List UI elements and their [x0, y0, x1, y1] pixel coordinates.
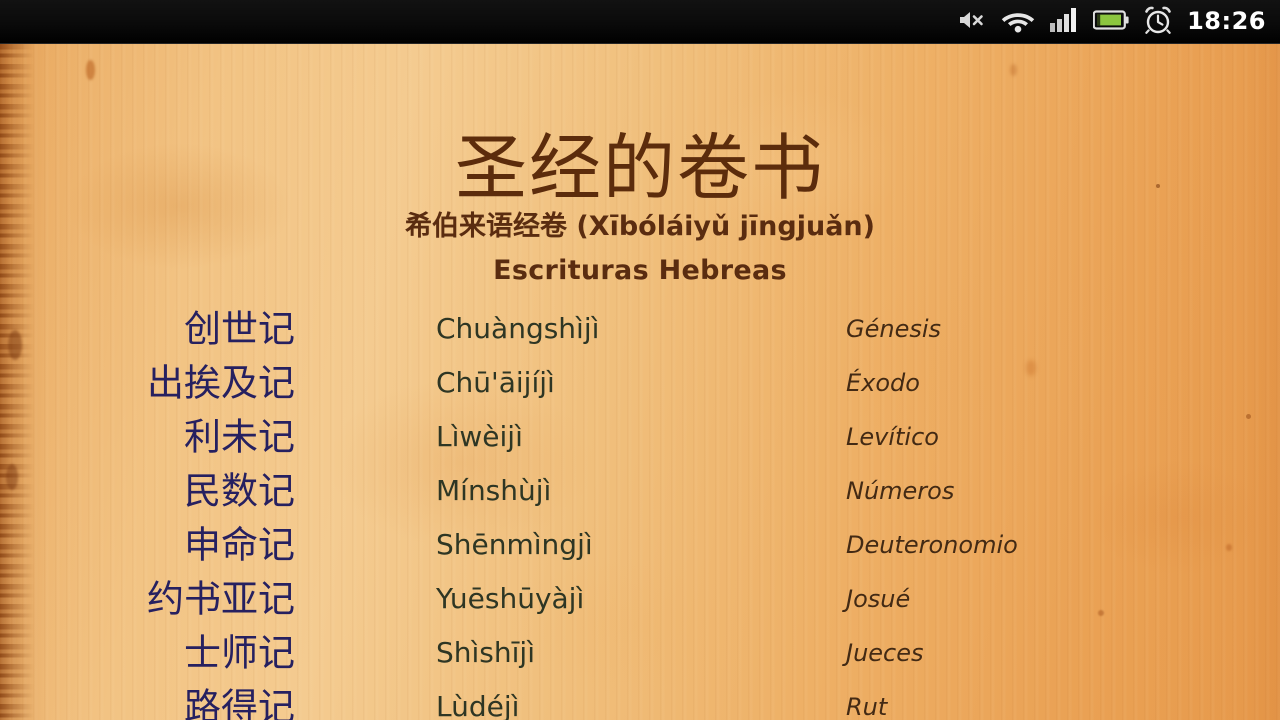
- book-row[interactable]: 利未记LìwèijìLevítico: [0, 410, 1280, 464]
- parchment-background: 圣经的卷书 希伯来语经卷 (Xībóláiyǔ jīngjuǎn) Escrit…: [0, 44, 1280, 720]
- book-row[interactable]: 出挨及记Chū'āijíjìÉxodo: [0, 356, 1280, 410]
- alarm-clock-icon: [1143, 6, 1173, 38]
- page-title: 圣经的卷书: [0, 132, 1280, 204]
- app-screen: 18:26 圣经的卷书 希伯来语经卷 (Xībóláiyǔ jīngjuǎn) …: [0, 0, 1280, 720]
- book-row[interactable]: 约书亚记YuēshūyàjìJosué: [0, 572, 1280, 626]
- book-name-spanish: Deuteronomio: [846, 533, 1018, 557]
- book-name-chinese: 路得记: [0, 689, 295, 720]
- book-row[interactable]: 创世记ChuàngshìjìGénesis: [0, 302, 1280, 356]
- book-name-spanish: Éxodo: [846, 371, 920, 395]
- book-list: 创世记ChuàngshìjìGénesis出挨及记Chū'āijíjìÉxodo…: [0, 302, 1280, 720]
- book-name-spanish: Génesis: [846, 317, 941, 341]
- cellular-signal-icon: [1049, 7, 1079, 37]
- status-bar: 18:26: [0, 0, 1280, 44]
- book-name-pinyin: Lùdéjì: [436, 693, 519, 720]
- book-name-chinese: 士师记: [0, 635, 295, 672]
- status-bar-clock: 18:26: [1187, 9, 1266, 35]
- battery-icon: [1093, 9, 1129, 35]
- book-name-spanish: Josué: [846, 587, 910, 611]
- book-row[interactable]: 路得记LùdéjìRut: [0, 680, 1280, 720]
- paper-speck: [1010, 64, 1017, 76]
- book-row[interactable]: 民数记MínshùjìNúmeros: [0, 464, 1280, 518]
- book-name-spanish: Números: [846, 479, 954, 503]
- book-name-chinese: 民数记: [0, 473, 295, 510]
- paper-speck: [86, 60, 95, 80]
- book-name-chinese: 申命记: [0, 527, 295, 564]
- book-name-chinese: 约书亚记: [0, 581, 295, 618]
- book-name-spanish: Jueces: [846, 641, 924, 665]
- book-row[interactable]: 士师记ShìshījìJueces: [0, 626, 1280, 680]
- subtitle-block: 希伯来语经卷 (Xībóláiyǔ jīngjuǎn) Escrituras H…: [0, 210, 1280, 288]
- book-name-spanish: Levítico: [846, 425, 939, 449]
- book-name-pinyin: Shēnmìngjì: [436, 531, 593, 559]
- status-bar-icons: 18:26: [957, 0, 1266, 44]
- book-name-chinese: 创世记: [0, 311, 295, 348]
- book-name-pinyin: Shìshījì: [436, 639, 535, 667]
- subtitle-chinese-pinyin: 希伯来语经卷 (Xībóláiyǔ jīngjuǎn): [0, 210, 1280, 244]
- book-name-chinese: 出挨及记: [0, 365, 295, 402]
- book-name-spanish: Rut: [846, 695, 887, 719]
- book-name-chinese: 利未记: [0, 419, 295, 456]
- wifi-icon: [1001, 7, 1035, 37]
- subtitle-spanish: Escrituras Hebreas: [0, 254, 1280, 288]
- book-name-pinyin: Lìwèijì: [436, 423, 523, 451]
- book-name-pinyin: Chū'āijíjì: [436, 369, 555, 397]
- book-name-pinyin: Yuēshūyàjì: [436, 585, 584, 613]
- volume-muted-icon: [957, 8, 987, 36]
- book-row[interactable]: 申命记ShēnmìngjìDeuteronomio: [0, 518, 1280, 572]
- book-name-pinyin: Chuàngshìjì: [436, 315, 599, 343]
- book-name-pinyin: Mínshùjì: [436, 477, 551, 505]
